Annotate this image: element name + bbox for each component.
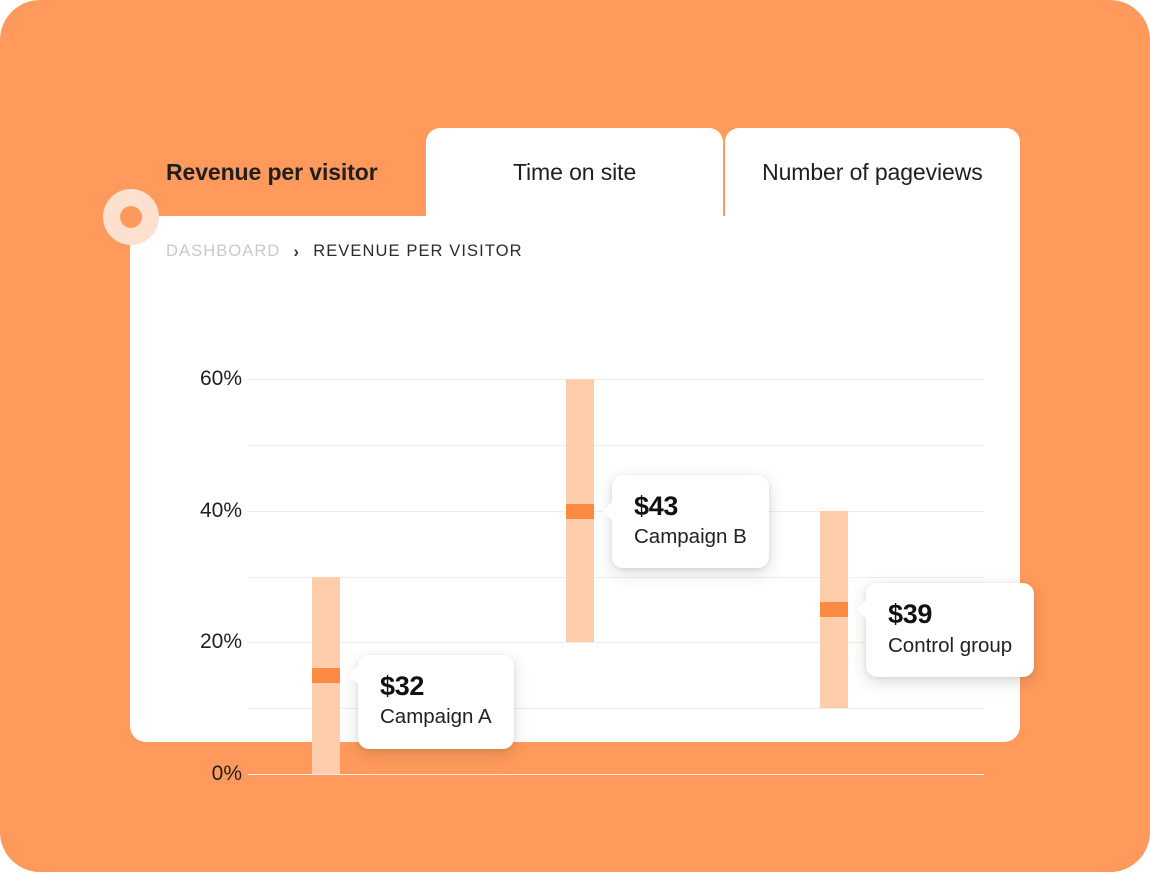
- gridline: [248, 577, 984, 578]
- y-axis-tick-label: 40%: [200, 499, 242, 523]
- chart-plot-region: 60%40%20%0%$32Campaign A$43Campaign B$39…: [248, 379, 984, 774]
- y-axis-tick-label: 20%: [200, 630, 242, 654]
- decorative-ring-icon: [103, 189, 159, 245]
- breadcrumb-item-dashboard[interactable]: DASHBOARD: [166, 242, 280, 261]
- tab-label: Time on site: [513, 159, 636, 186]
- tab-time-on-site[interactable]: Time on site: [426, 128, 722, 216]
- chevron-right-icon: ›: [293, 243, 300, 260]
- tab-number-of-pageviews[interactable]: Number of pageviews: [725, 128, 1020, 216]
- tab-label: Number of pageviews: [762, 159, 983, 186]
- y-axis-tick-label: 60%: [200, 367, 242, 391]
- data-point-tooltip: $43Campaign B: [612, 475, 769, 568]
- tooltip-value: $43: [634, 491, 747, 521]
- app-canvas: Revenue per visitor Time on site Number …: [0, 0, 1150, 872]
- tab-revenue-per-visitor[interactable]: Revenue per visitor: [130, 128, 426, 216]
- gridline: [248, 445, 984, 446]
- tab-bar: Revenue per visitor Time on site Number …: [130, 128, 1020, 216]
- chart-area: 60%40%20%0%$32Campaign A$43Campaign B$39…: [166, 289, 984, 709]
- y-axis-tick-label: 0%: [212, 762, 242, 786]
- content-card: DASHBOARD › REVENUE PER VISITOR 60%40%20…: [130, 215, 1020, 742]
- tooltip-pointer: [857, 599, 867, 619]
- gridline: [248, 379, 984, 380]
- data-point-tooltip: $32Campaign A: [358, 655, 514, 748]
- tooltip-label: Control group: [888, 633, 1012, 659]
- tab-label: Revenue per visitor: [166, 159, 378, 186]
- tooltip-pointer: [603, 501, 613, 521]
- tooltip-pointer: [349, 665, 359, 685]
- data-point-tooltip: $39Control group: [866, 583, 1034, 676]
- tooltip-value: $39: [888, 599, 1012, 629]
- tooltip-label: Campaign A: [380, 704, 492, 730]
- bar-marker[interactable]: [566, 504, 594, 519]
- tooltip-label: Campaign B: [634, 524, 747, 550]
- gridline: [248, 774, 984, 775]
- breadcrumb: DASHBOARD › REVENUE PER VISITOR: [166, 242, 523, 261]
- tooltip-value: $32: [380, 671, 492, 701]
- bar-marker[interactable]: [312, 668, 340, 683]
- bar-marker[interactable]: [820, 602, 848, 617]
- breadcrumb-item-current: REVENUE PER VISITOR: [313, 242, 522, 261]
